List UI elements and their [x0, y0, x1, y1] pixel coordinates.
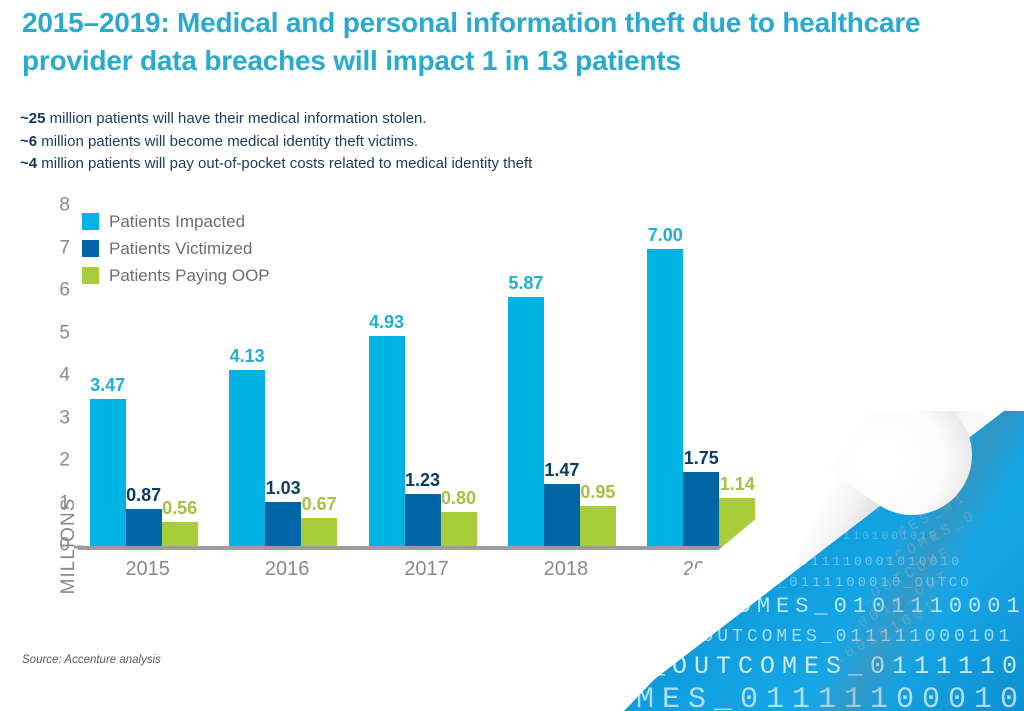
legend-item-patients-paying-oop[interactable]: Patients Paying OOP	[82, 262, 382, 289]
curl-tip	[828, 411, 995, 539]
bar-value-label: 0.95	[580, 482, 615, 503]
bullet-text: million patients will pay out-of-pocket …	[37, 155, 532, 172]
bar-group-2017: 4.931.230.80	[369, 206, 477, 546]
legend-label: Patients Paying OOP	[109, 266, 270, 286]
bullet-line: ~25 million patients will have their med…	[20, 108, 840, 131]
bar-2018-series1[interactable]: 1.47	[544, 484, 580, 546]
bullet-line: ~6 million patients will become medical …	[20, 131, 840, 154]
bar-value-label: 1.47	[544, 460, 579, 481]
bullet-amount: ~25	[20, 110, 45, 127]
bullet-text: million patients will have their medical…	[45, 110, 426, 127]
bar-value-label: 0.56	[162, 498, 197, 519]
page-title: 2015–2019: Medical and personal informat…	[22, 4, 922, 80]
bar-value-label: 3.47	[90, 375, 125, 396]
y-axis-tick: 2	[30, 450, 70, 472]
source-note: Source: Accenture analysis	[22, 654, 161, 666]
y-axis-tick: 7	[30, 237, 70, 259]
y-axis-tick: 5	[30, 322, 70, 344]
binary-row: 010_OUTCOMES_010111000101001010	[624, 594, 1024, 619]
chart-legend: Patients Impacted Patients Victimized Pa…	[82, 208, 382, 289]
y-axis-tick: 6	[30, 280, 70, 302]
slide-canvas: 2015–2019: Medical and personal informat…	[0, 0, 1024, 711]
bullet-amount: ~6	[20, 133, 37, 150]
bar-2016-series1[interactable]: 1.03	[265, 502, 301, 546]
bar-2017-series2[interactable]: 0.80	[441, 512, 477, 546]
bar-2016-series0[interactable]: 4.13	[229, 370, 265, 546]
bar-value-label: 1.23	[405, 470, 440, 491]
legend-swatch-icon	[82, 267, 99, 284]
bullet-line: ~4 million patients will pay out-of-pock…	[20, 153, 840, 176]
binary-row: 010_OUTCOMES_011111000101001	[624, 652, 1024, 681]
summary-bullets: ~25 million patients will have their med…	[20, 108, 840, 176]
legend-item-patients-impacted[interactable]: Patients Impacted	[82, 208, 382, 235]
x-axis-line	[78, 546, 775, 550]
legend-label: Patients Impacted	[109, 212, 245, 232]
y-axis-tick: 3	[30, 407, 70, 429]
legend-item-patients-victimized[interactable]: Patients Victimized	[82, 235, 382, 262]
y-axis-tick: 4	[30, 365, 70, 387]
bar-2017-series0[interactable]: 4.93	[369, 336, 405, 546]
bar-2019-series0[interactable]: 7.00	[647, 249, 683, 547]
legend-swatch-icon	[82, 240, 99, 257]
bar-value-label: 1.03	[266, 478, 301, 499]
binary-row: COMES_011111000101001010	[624, 683, 1024, 711]
legend-label: Patients Victimized	[109, 239, 252, 259]
bar-2015-series0[interactable]: 3.47	[90, 399, 126, 546]
bar-2015-series1[interactable]: 0.87	[126, 509, 162, 546]
ghost-binary-row: 100100100101001	[762, 530, 1024, 707]
bar-group-2018: 5.871.470.95	[508, 206, 616, 546]
bar-value-label: 0.80	[441, 488, 476, 509]
x-axis-tick-2015: 2015	[125, 558, 170, 581]
y-axis-tick: 8	[30, 195, 70, 217]
x-axis-tick-2019: 2019	[683, 558, 728, 581]
bar-group-2019: 7.001.751.14	[647, 206, 755, 546]
legend-swatch-icon	[82, 213, 99, 230]
y-axis-tick: 0	[30, 535, 70, 557]
x-axis-tick-2016: 2016	[265, 558, 310, 581]
bar-value-label: 5.87	[508, 273, 543, 294]
bar-2018-series2[interactable]: 0.95	[580, 506, 616, 546]
bar-value-label: 1.75	[684, 448, 719, 469]
bar-value-label: 4.93	[369, 312, 404, 333]
bar-2015-series2[interactable]: 0.56	[162, 522, 198, 546]
bullet-amount: ~4	[20, 155, 37, 172]
bar-2018-series0[interactable]: 5.87	[508, 297, 544, 546]
x-axis-tick-2018: 2018	[544, 558, 589, 581]
x-axis-tick-2017: 2017	[404, 558, 449, 581]
bar-2019-series2[interactable]: 1.14	[719, 498, 755, 546]
y-axis-tick: 1	[30, 492, 70, 514]
bar-value-label: 7.00	[648, 225, 683, 246]
bar-value-label: 4.13	[230, 346, 265, 367]
bar-value-label: 0.67	[302, 494, 337, 515]
bullet-text: million patients will become medical ide…	[37, 133, 418, 150]
bar-2017-series1[interactable]: 1.23	[405, 494, 441, 546]
bar-value-label: 1.14	[720, 474, 755, 495]
bar-2016-series2[interactable]: 0.67	[301, 518, 337, 546]
binary-row: 0010010_OUTCOMES_011111000101	[624, 627, 1013, 647]
bar-value-label: 0.87	[126, 485, 161, 506]
bar-2019-series1[interactable]: 1.75	[683, 472, 719, 546]
